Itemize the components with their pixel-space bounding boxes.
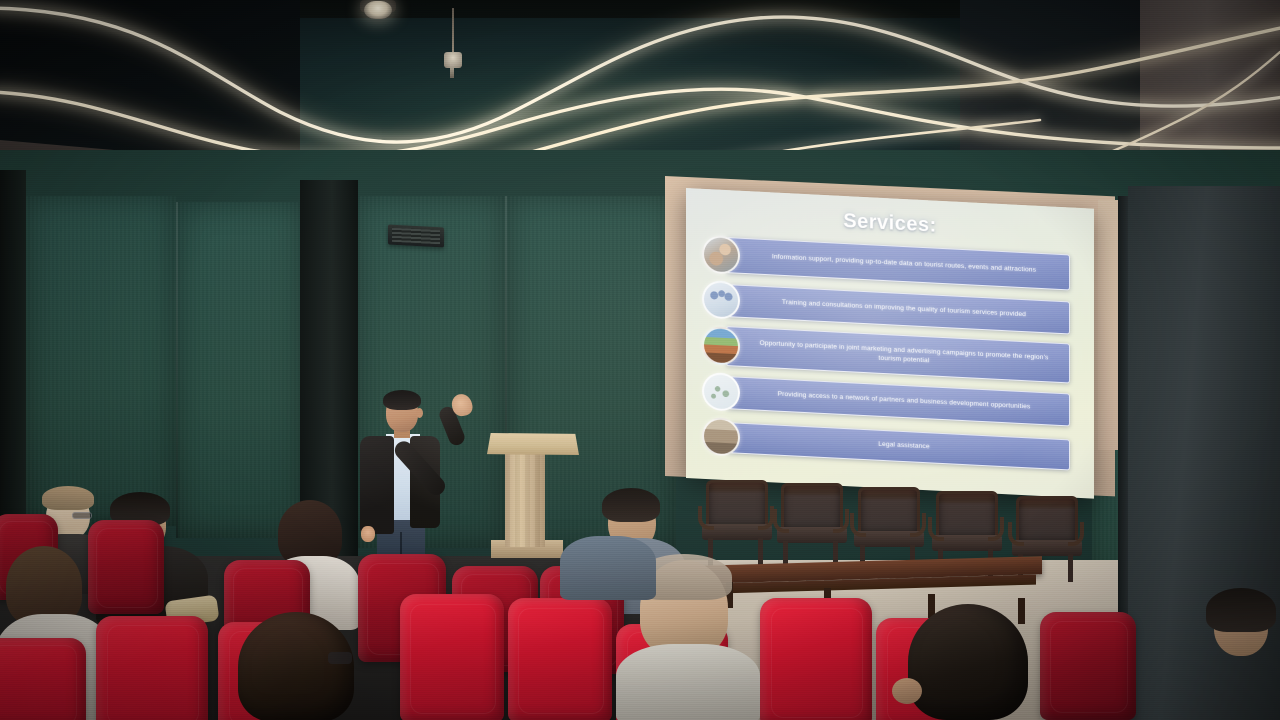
- audience-hair: [602, 488, 660, 522]
- slide-item-text: Training and consultations on improving …: [782, 298, 1026, 320]
- red-seat[interactable]: [96, 616, 208, 720]
- audience-ear: [892, 678, 922, 704]
- red-seat[interactable]: [760, 598, 872, 720]
- wooden-chair[interactable]: [700, 480, 772, 566]
- panel-seam-1: [176, 202, 178, 538]
- red-seat[interactable]: [0, 638, 86, 720]
- audience-head: [908, 604, 1028, 720]
- projection-screen[interactable]: Services: Information support, providing…: [686, 188, 1094, 499]
- wall-panel-2: [176, 202, 304, 538]
- wooden-chair[interactable]: [775, 483, 847, 569]
- slide-item-text: Legal assistance: [878, 440, 930, 452]
- slide-item-text: Opportunity to participate in joint mark…: [749, 338, 1059, 372]
- presenter-ear: [416, 408, 423, 418]
- wooden-podium[interactable]: [487, 433, 579, 455]
- hanging-fixture-wire: [452, 8, 454, 56]
- audience-hair: [42, 486, 94, 510]
- presenter-hair: [383, 390, 421, 410]
- conference-hall-scene: Services: Information support, providing…: [0, 0, 1280, 720]
- red-seat[interactable]: [400, 594, 504, 720]
- slide-item-bar: Information support, providing up-to-dat…: [726, 237, 1070, 290]
- red-seat[interactable]: [88, 520, 164, 614]
- slide-items-list: Information support, providing up-to-dat…: [686, 234, 1094, 482]
- presenter-speaker: [352, 392, 492, 567]
- red-seat[interactable]: [508, 598, 612, 720]
- slide-item-bar: Providing access to a network of partner…: [726, 376, 1070, 426]
- red-seat[interactable]: [1040, 612, 1136, 720]
- bench-leg: [1018, 598, 1025, 624]
- ceiling-spotlight-icon: [364, 1, 392, 19]
- slide-item-text: Providing access to a network of partner…: [778, 390, 1031, 412]
- glasses-icon: [72, 512, 92, 519]
- slide-item-bar: Legal assistance: [726, 422, 1070, 470]
- slide-item-bar: Training and consultations on improving …: [726, 284, 1070, 334]
- air-conditioner-vent-icon: [388, 225, 444, 248]
- wall-panel-1: [26, 196, 176, 526]
- slide-item-text: Information support, providing up-to-dat…: [772, 253, 1036, 276]
- glasses-icon: [328, 652, 352, 664]
- podium-column: [505, 452, 545, 547]
- audience-shoulders: [616, 644, 760, 720]
- audience-hair: [1206, 588, 1276, 632]
- presentation-slide: Services: Information support, providing…: [686, 188, 1094, 499]
- presenter-left-hand: [361, 526, 375, 542]
- presenter-jacket-left: [360, 436, 394, 534]
- audience-head: [238, 612, 354, 720]
- hanging-fixture-stem: [450, 62, 454, 78]
- audience-shoulders: [560, 536, 656, 600]
